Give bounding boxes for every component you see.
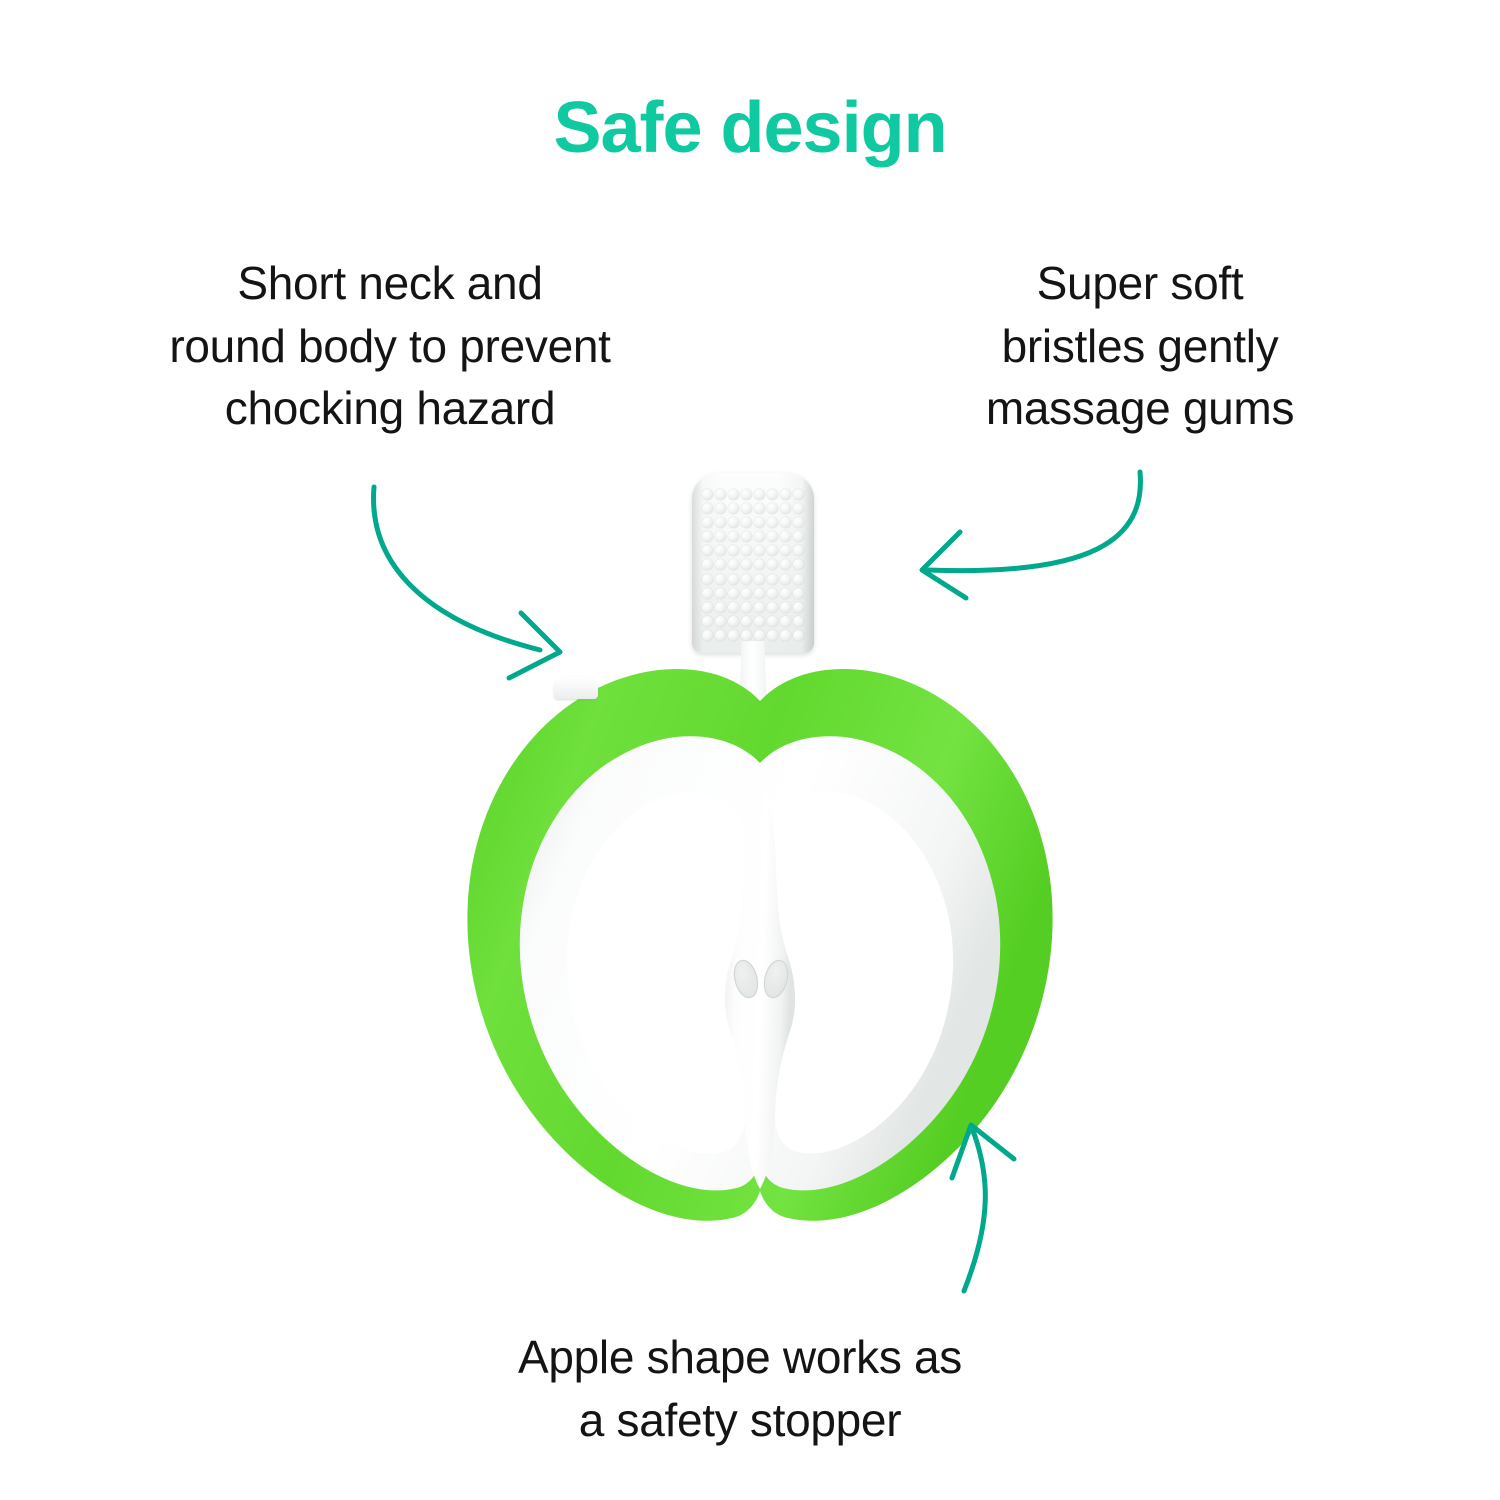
bristle-nub: [767, 531, 778, 542]
callout-line: massage gums: [880, 377, 1400, 440]
callout-line: Super soft: [880, 252, 1400, 315]
bristle-nub: [728, 616, 739, 627]
bristle-nub: [767, 588, 778, 599]
bristle-nub: [728, 517, 739, 528]
bristle-nub: [767, 503, 778, 514]
bristle-head: [692, 473, 814, 653]
bristle-nub: [780, 517, 791, 528]
bristle-nub: [702, 517, 713, 528]
bristle-nub: [741, 503, 752, 514]
apple-shaped-ring-body: [454, 667, 1066, 1247]
bristle-nub: [728, 489, 739, 500]
bristle-nub: [715, 545, 726, 556]
bristle-nub: [728, 545, 739, 556]
product-illustration: [430, 455, 1090, 1255]
bristle-nub: [780, 531, 791, 542]
bristle-nub: [702, 602, 713, 613]
bristle-nub: [780, 574, 791, 585]
bristle-nub: [780, 602, 791, 613]
bristle-nub: [780, 545, 791, 556]
bristle-nub: [702, 559, 713, 570]
infographic-canvas: Safe design Short neck and round body to…: [0, 0, 1500, 1500]
bristle-nub: [767, 545, 778, 556]
bristle-nub: [728, 602, 739, 613]
bristle-nub: [793, 517, 804, 528]
bristle-nub: [793, 588, 804, 599]
bristle-nub: [767, 630, 778, 641]
bristle-nub: [754, 630, 765, 641]
callout-line: a safety stopper: [390, 1389, 1090, 1452]
bristle-nub: [793, 503, 804, 514]
bristle-nub: [754, 489, 765, 500]
callout-line: chocking hazard: [60, 377, 720, 440]
bristle-nub: [715, 630, 726, 641]
bristle-nub: [715, 574, 726, 585]
bristle-nub: [741, 574, 752, 585]
bristle-nub: [754, 574, 765, 585]
rim-tab-nub: [554, 677, 598, 699]
bristle-nub: [702, 616, 713, 627]
bristle-nub: [702, 503, 713, 514]
bristle-nub: [754, 531, 765, 542]
bristle-nub: [741, 602, 752, 613]
bristle-nub: [793, 489, 804, 500]
bristle-nub: [702, 531, 713, 542]
callout-apple-stopper: Apple shape works as a safety stopper: [390, 1326, 1090, 1451]
bristle-nub: [780, 616, 791, 627]
bristle-nub: [754, 588, 765, 599]
bristle-nub: [728, 588, 739, 599]
bristle-nub: [780, 630, 791, 641]
bristle-nub: [741, 588, 752, 599]
callout-line: Apple shape works as: [390, 1326, 1090, 1389]
bristle-nub: [754, 602, 765, 613]
bristle-nub: [741, 559, 752, 570]
bristle-nub: [754, 559, 765, 570]
bristle-nub: [754, 503, 765, 514]
bristle-nub: [767, 574, 778, 585]
bristle-nub: [793, 545, 804, 556]
bristle-nub: [702, 588, 713, 599]
page-title: Safe design: [0, 92, 1500, 164]
bristle-nub: [793, 602, 804, 613]
bristle-nub: [780, 588, 791, 599]
bristle-nub: [702, 630, 713, 641]
bristle-nub: [741, 630, 752, 641]
bristle-nub: [754, 545, 765, 556]
bristle-nub: [702, 574, 713, 585]
bristle-nub: [741, 489, 752, 500]
bristle-nub: [715, 531, 726, 542]
bristle-nub: [715, 503, 726, 514]
bristle-nub: [728, 531, 739, 542]
bristle-nub: [767, 559, 778, 570]
bristle-nub: [728, 503, 739, 514]
bristle-nub: [702, 545, 713, 556]
bristle-nub: [715, 616, 726, 627]
bristle-grid: [701, 487, 805, 643]
callout-line: bristles gently: [880, 315, 1400, 378]
callout-line: Short neck and: [60, 252, 720, 315]
bristle-nub: [780, 503, 791, 514]
bristle-nub: [767, 489, 778, 500]
bristle-nub: [793, 616, 804, 627]
bristle-nub: [715, 559, 726, 570]
bristle-nub: [741, 616, 752, 627]
bristle-nub: [793, 559, 804, 570]
callout-short-neck: Short neck and round body to prevent cho…: [60, 252, 720, 440]
bristle-nub: [741, 531, 752, 542]
bristle-nub: [780, 489, 791, 500]
bristle-nub: [767, 602, 778, 613]
bristle-nub: [728, 574, 739, 585]
bristle-nub: [715, 588, 726, 599]
bristle-nub: [715, 602, 726, 613]
callout-line: round body to prevent: [60, 315, 720, 378]
bristle-nub: [767, 517, 778, 528]
bristle-nub: [793, 531, 804, 542]
bristle-nub: [793, 630, 804, 641]
bristle-nub: [741, 545, 752, 556]
bristle-nub: [754, 517, 765, 528]
bristle-nub: [780, 559, 791, 570]
bristle-nub: [728, 630, 739, 641]
bristle-nub: [715, 489, 726, 500]
bristle-nub: [715, 517, 726, 528]
bristle-nub: [728, 559, 739, 570]
callout-soft-bristles: Super soft bristles gently massage gums: [880, 252, 1400, 440]
bristle-nub: [702, 489, 713, 500]
bristle-nub: [754, 616, 765, 627]
bristle-nub: [741, 517, 752, 528]
bristle-nub: [767, 616, 778, 627]
bristle-nub: [793, 574, 804, 585]
